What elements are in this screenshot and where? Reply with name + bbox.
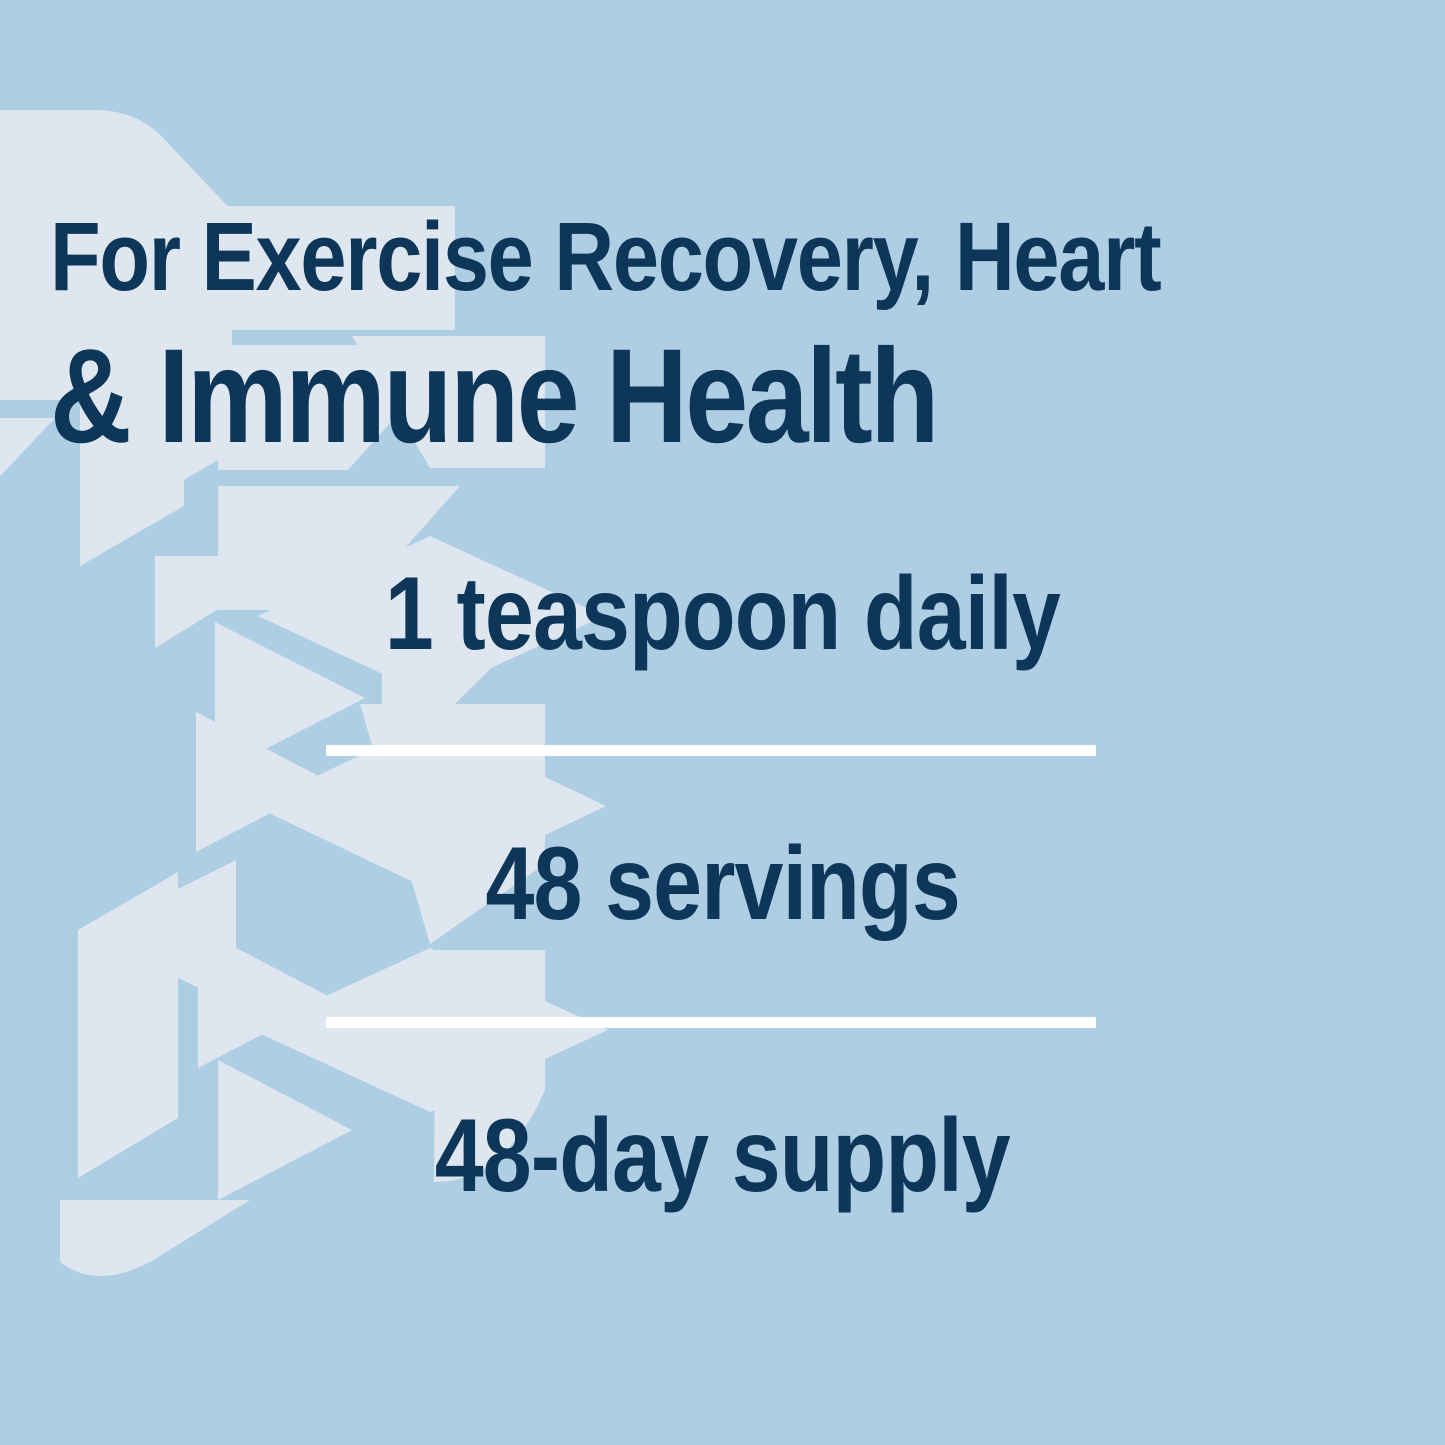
spec-servings: 48 servings	[0, 832, 1445, 936]
spec-dosage: 1 teaspoon daily	[0, 562, 1445, 666]
divider-after-dosage	[326, 745, 1096, 756]
divider-after-servings	[326, 1017, 1096, 1028]
spec-supply: 48-day supply	[0, 1104, 1445, 1208]
headline-line-1: For Exercise Recovery, Heart	[50, 208, 1213, 305]
spec-servings-label: 48 servings	[485, 832, 959, 936]
product-benefit-card: For Exercise Recovery, Heart & Immune He…	[0, 0, 1445, 1445]
headline-line-2: & Immune Health	[50, 330, 1199, 464]
spec-dosage-label: 1 teaspoon daily	[385, 562, 1060, 666]
spec-supply-label: 48-day supply	[435, 1104, 1010, 1208]
